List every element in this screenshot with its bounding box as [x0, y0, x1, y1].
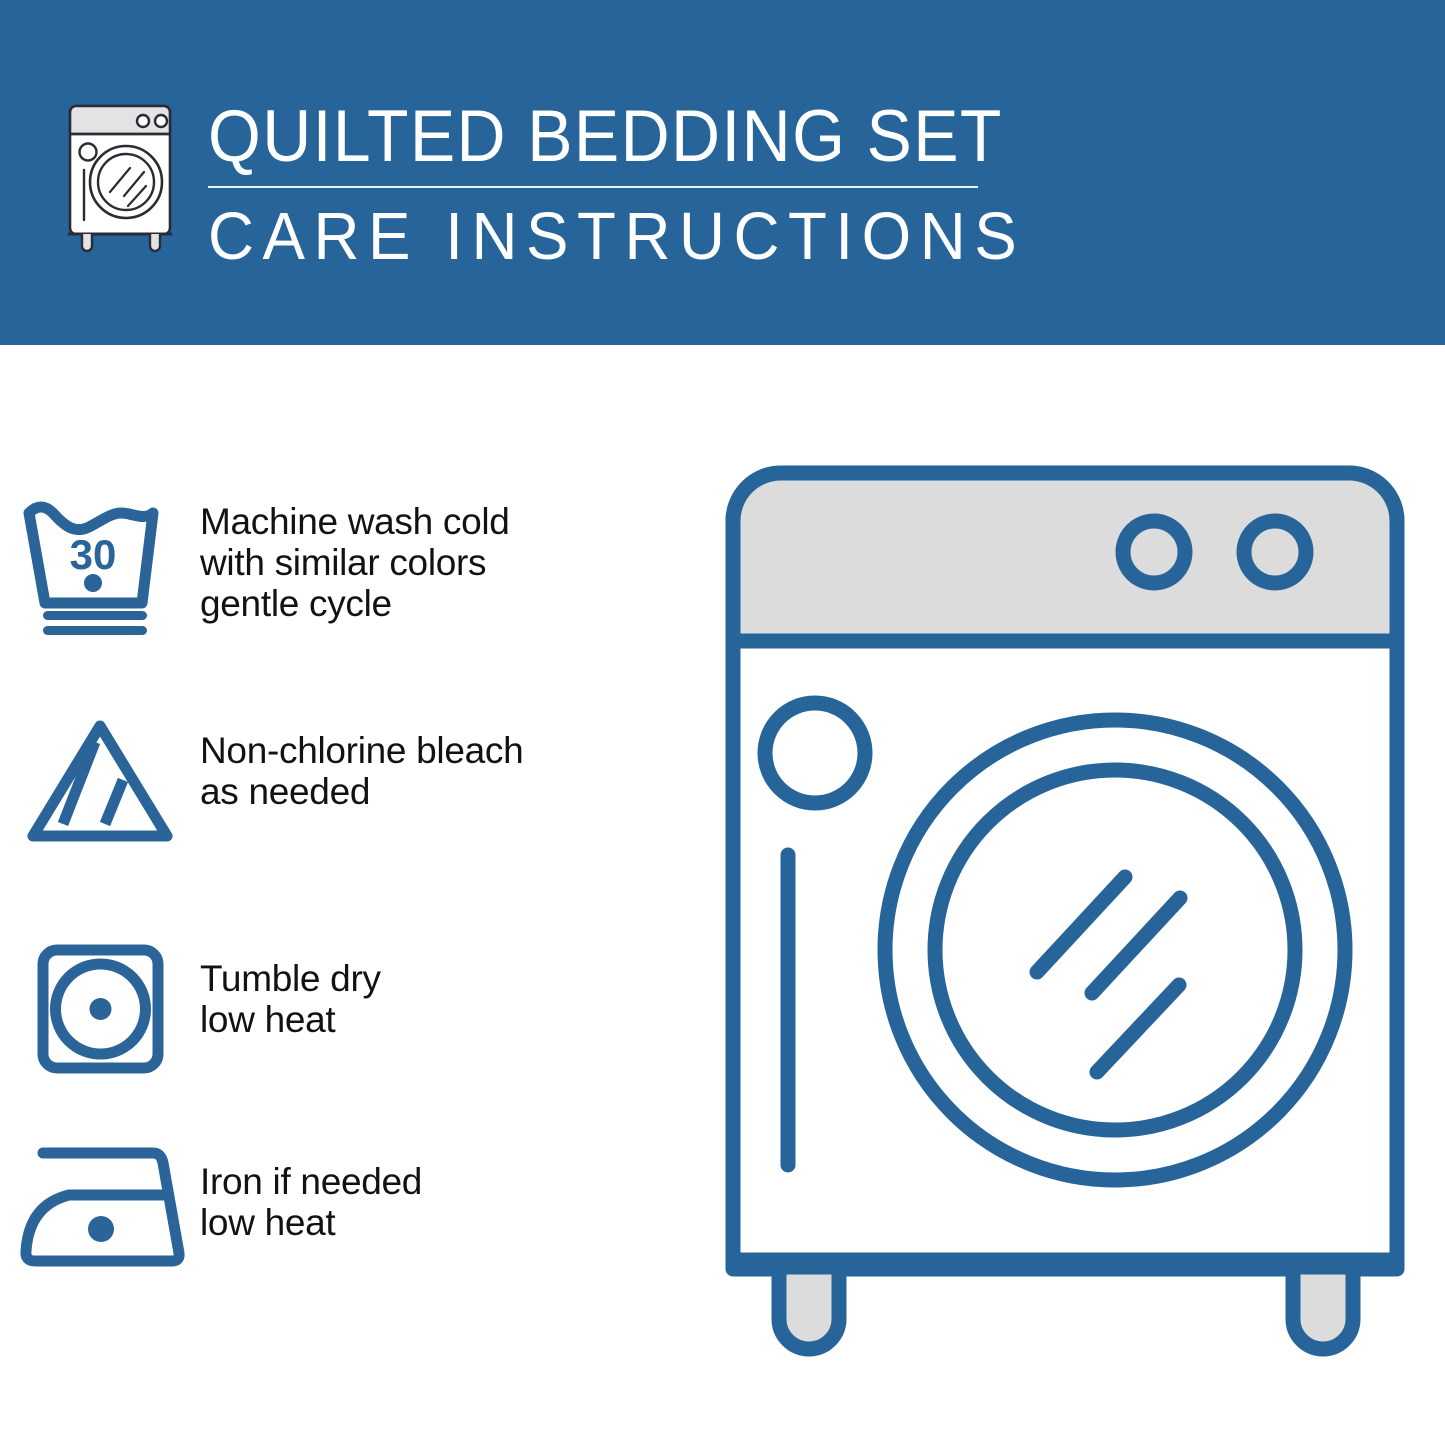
tumble-dry-low-icon: [0, 930, 200, 1086]
non-chlorine-bleach-triangle-icon: [0, 710, 200, 846]
front-load-washing-machine-illustration: [715, 455, 1415, 1375]
care-line: low heat: [200, 999, 381, 1040]
care-text-machine-wash: Machine wash cold with similar colors ge…: [200, 485, 510, 624]
iron-low-heat-icon: [0, 1135, 200, 1276]
leg-right: [1293, 1267, 1353, 1349]
care-line: with similar colors: [200, 542, 510, 583]
care-line: Non-chlorine bleach: [200, 730, 523, 771]
page-subtitle: CARE INSTRUCTIONS: [208, 201, 1063, 273]
care-row-tumble-dry: Tumble dry low heat: [0, 930, 700, 1086]
care-line: Tumble dry: [200, 958, 381, 999]
care-row-machine-wash: 30 Machine wash cold with similar colors…: [0, 485, 700, 641]
care-line: as needed: [200, 771, 523, 812]
care-row-bleach: Non-chlorine bleach as needed: [0, 710, 700, 846]
care-instructions-page: QUILTED BEDDING SET CARE INSTRUCTIONS 30: [0, 0, 1445, 1445]
svg-text:30: 30: [70, 531, 117, 578]
care-text-bleach: Non-chlorine bleach as needed: [200, 710, 523, 812]
header-divider: [208, 186, 978, 188]
header-text-block: QUILTED BEDDING SET CARE INSTRUCTIONS: [208, 98, 1108, 273]
care-line: gentle cycle: [200, 583, 510, 624]
care-line: low heat: [200, 1202, 422, 1243]
care-text-tumble-dry: Tumble dry low heat: [200, 930, 381, 1040]
care-row-iron: Iron if needed low heat: [0, 1135, 700, 1276]
header-band: QUILTED BEDDING SET CARE INSTRUCTIONS: [0, 0, 1445, 345]
washing-machine-icon: [62, 100, 187, 255]
care-line: Iron if needed: [200, 1161, 422, 1202]
care-text-iron: Iron if needed low heat: [200, 1135, 422, 1243]
leg-left: [779, 1267, 839, 1349]
wash-tub-30-gentle-icon: 30: [0, 485, 200, 641]
care-line: Machine wash cold: [200, 501, 510, 542]
care-instructions-list: 30 Machine wash cold with similar colors…: [0, 345, 700, 1445]
page-title: QUILTED BEDDING SET: [208, 98, 1045, 176]
